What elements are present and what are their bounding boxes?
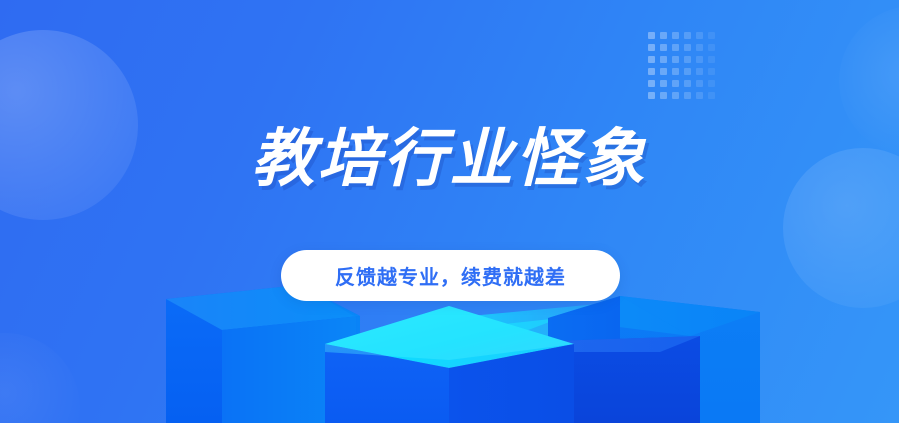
- dot-grid-cell-icon: [648, 32, 655, 39]
- dot-grid-cell-icon: [696, 32, 703, 39]
- dot-grid-cell-icon: [660, 32, 667, 39]
- dot-grid-cell-icon: [684, 68, 691, 75]
- dot-grid-cell-icon: [672, 56, 679, 63]
- podium-cube-right: [548, 296, 760, 423]
- title-container: 教培行业怪象: [0, 126, 899, 193]
- podium-cube-left: [166, 285, 360, 423]
- dot-grid-cell-icon: [684, 32, 691, 39]
- dot-grid-cell-icon: [660, 44, 667, 51]
- podium-cube-center: [325, 306, 574, 423]
- promo-banner: 教培行业怪象 反馈越专业，续费就越差: [0, 0, 899, 423]
- podium-cube-small: [524, 336, 700, 423]
- dot-grid-cell-icon: [708, 92, 715, 99]
- page-title: 教培行业怪象: [252, 126, 648, 193]
- podium-glow-wedge: [449, 300, 700, 352]
- dot-grid-cell-icon: [672, 32, 679, 39]
- dot-grid-cell-icon: [672, 80, 679, 87]
- decorative-circle-bottom-left-icon: [0, 333, 80, 423]
- dot-grid-cell-icon: [648, 68, 655, 75]
- dot-grid-cell-icon: [672, 92, 679, 99]
- dot-grid-cell-icon: [648, 80, 655, 87]
- dot-grid-cell-icon: [708, 32, 715, 39]
- dot-grid-cell-icon: [696, 44, 703, 51]
- dot-grid-cell-icon: [672, 44, 679, 51]
- podium-stage-graphic: [0, 0, 899, 423]
- subtitle-pill: 反馈越专业，续费就越差: [281, 250, 620, 301]
- dot-grid-cell-icon: [708, 56, 715, 63]
- dot-grid-cell-icon: [708, 44, 715, 51]
- subtitle-text: 反馈越专业，续费就越差: [335, 261, 566, 290]
- dot-grid-cell-icon: [648, 56, 655, 63]
- dot-grid-cell-icon: [648, 92, 655, 99]
- dot-grid-cell-icon: [696, 80, 703, 87]
- dot-grid-cell-icon: [708, 80, 715, 87]
- dot-grid-cell-icon: [660, 92, 667, 99]
- dot-grid-cell-icon: [708, 68, 715, 75]
- dot-grid-cell-icon: [696, 92, 703, 99]
- dot-grid-cell-icon: [648, 44, 655, 51]
- dot-grid-cell-icon: [684, 92, 691, 99]
- dot-grid-cell-icon: [684, 44, 691, 51]
- dot-grid-pattern-icon: [648, 32, 720, 104]
- dot-grid-cell-icon: [684, 56, 691, 63]
- dot-grid-cell-icon: [696, 68, 703, 75]
- dot-grid-cell-icon: [660, 56, 667, 63]
- dot-grid-cell-icon: [696, 56, 703, 63]
- dot-grid-cell-icon: [660, 80, 667, 87]
- dot-grid-cell-icon: [684, 80, 691, 87]
- dot-grid-cell-icon: [672, 68, 679, 75]
- dot-grid-cell-icon: [660, 68, 667, 75]
